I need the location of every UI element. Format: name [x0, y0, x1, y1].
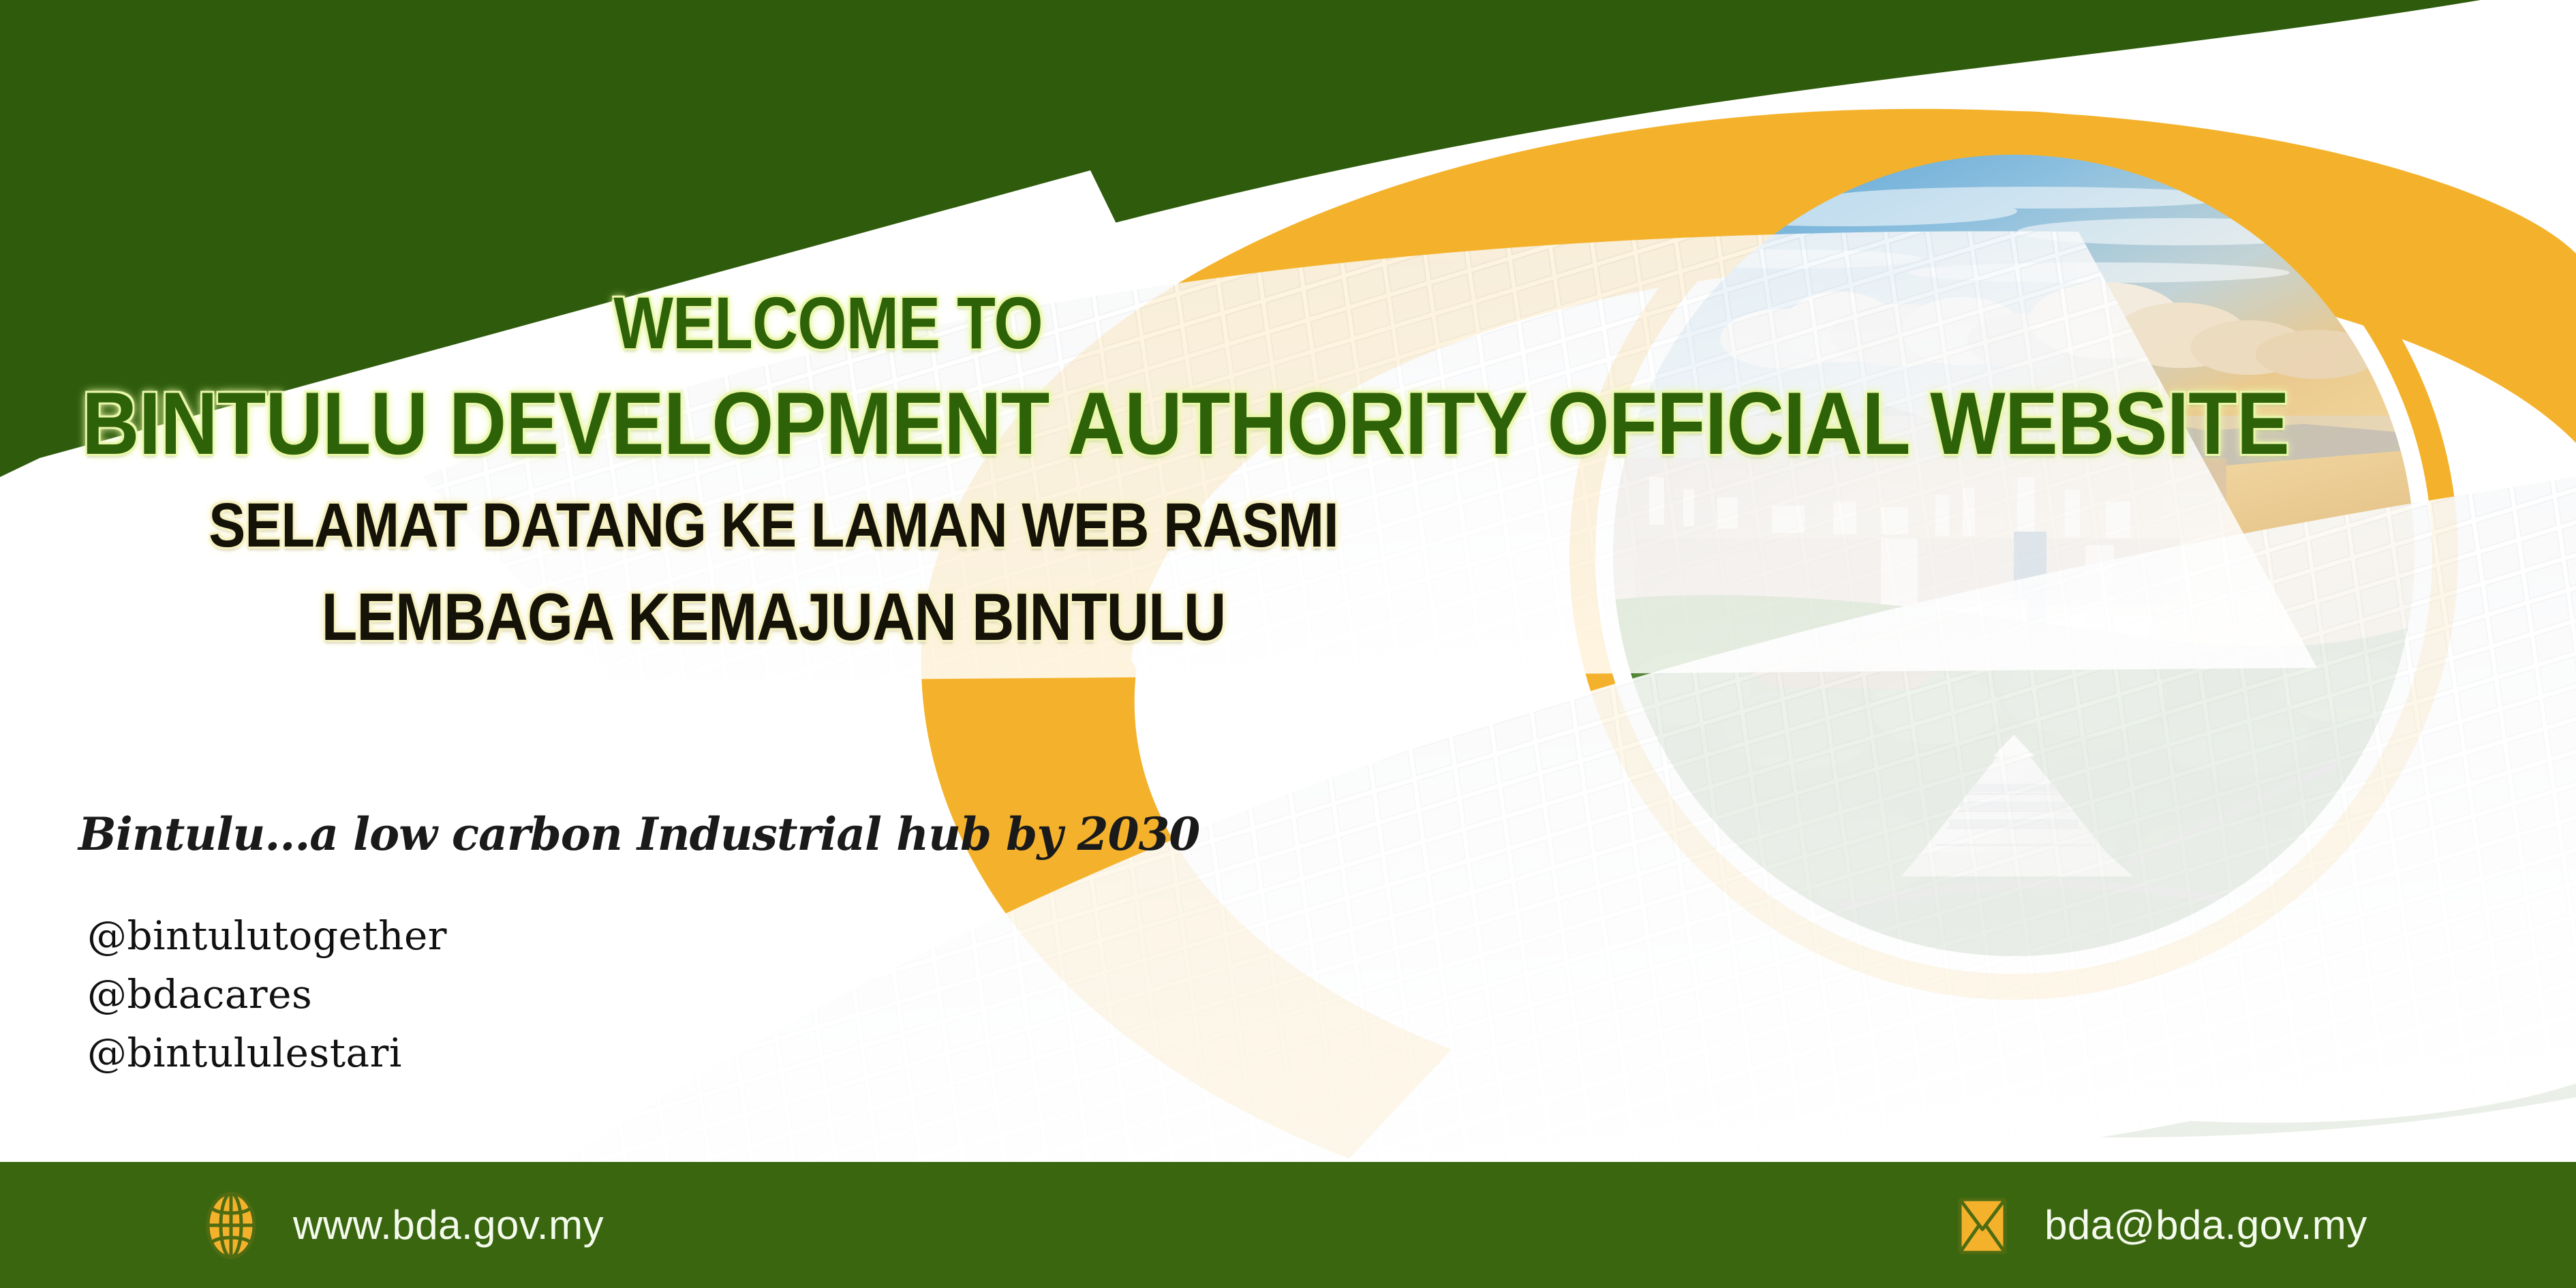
email-address[interactable]: bda@bda.gov.my: [2044, 1201, 2367, 1248]
website-contact[interactable]: www.bda.gov.my: [202, 1190, 604, 1261]
website-url[interactable]: www.bda.gov.my: [293, 1201, 604, 1248]
globe-icon: [202, 1190, 260, 1261]
social-handle-item[interactable]: @bintululestari: [87, 1024, 447, 1082]
social-handle-item[interactable]: @bintulutogether: [87, 906, 447, 965]
banner-background-art: [0, 0, 2576, 1288]
envelope-icon: [1953, 1190, 2012, 1261]
contact-footer-bar: www.bda.gov.my bda@bda.gov.my: [0, 1162, 2576, 1288]
bda-welcome-banner: WELCOME TO BINTULU DEVELOPMENT AUTHORITY…: [0, 0, 2576, 1288]
vision-tagline: Bintulu...a low carbon Industrial hub by…: [78, 808, 1199, 861]
social-handles-list: @bintulutogether @bdacares @bintululesta…: [87, 906, 447, 1082]
social-handle-item[interactable]: @bdacares: [87, 965, 447, 1024]
email-contact[interactable]: bda@bda.gov.my: [1953, 1190, 2367, 1261]
